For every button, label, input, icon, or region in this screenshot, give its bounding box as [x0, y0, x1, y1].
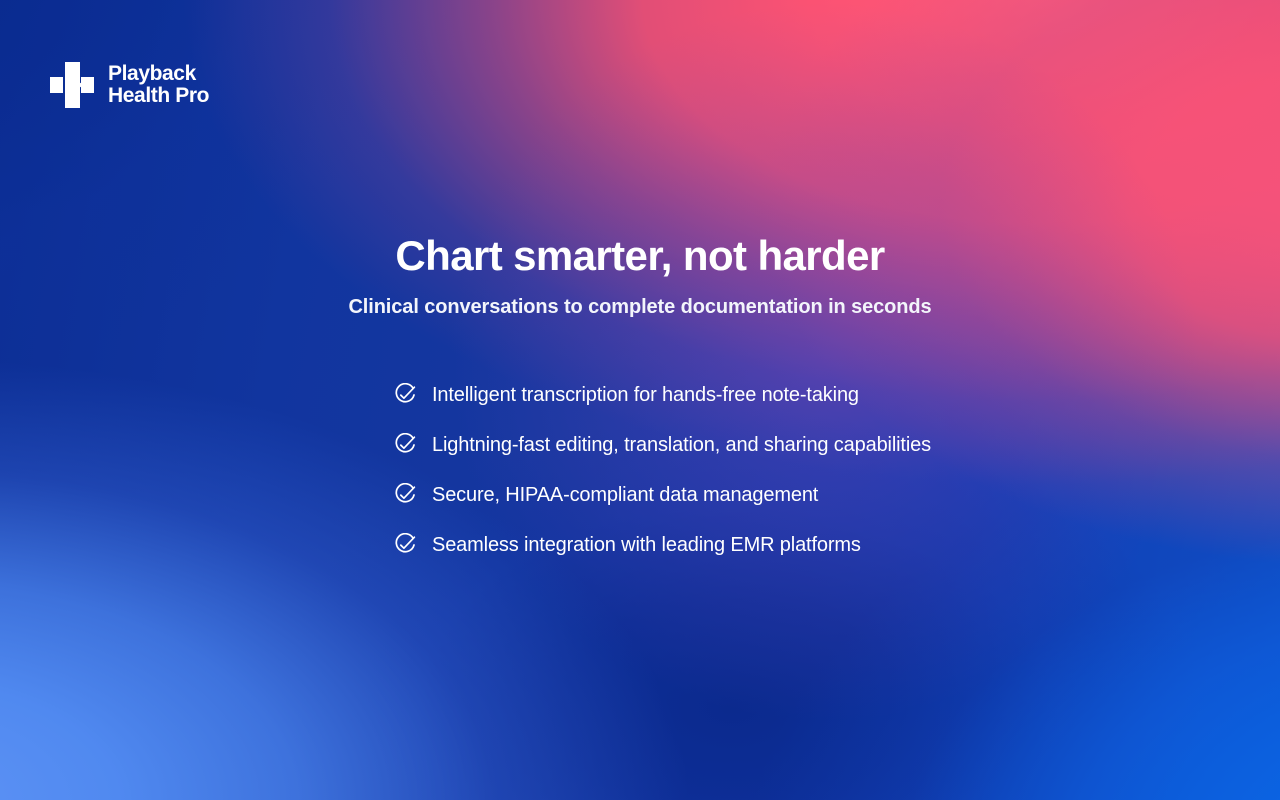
- check-circle-icon: [393, 533, 417, 557]
- check-circle-icon: [393, 383, 417, 407]
- brand-wordmark-line-2: Health Pro: [108, 85, 209, 107]
- feature-label: Lightning-fast editing, translation, and…: [432, 432, 931, 458]
- check-circle-icon: [393, 483, 417, 507]
- list-item: Secure, HIPAA-compliant data management: [393, 482, 1093, 508]
- feature-label: Intelligent transcription for hands-free…: [432, 382, 859, 408]
- brand-logo-lockup[interactable]: Playback Health Pro: [50, 62, 209, 108]
- headline-block: Chart smarter, not harder Clinical conve…: [0, 232, 1280, 320]
- list-item: Lightning-fast editing, translation, and…: [393, 432, 1093, 458]
- promo-slide: Playback Health Pro Chart smarter, not h…: [0, 0, 1280, 800]
- page-subtitle: Clinical conversations to complete docum…: [0, 295, 1280, 320]
- page-title: Chart smarter, not harder: [0, 232, 1280, 279]
- check-circle-icon: [393, 433, 417, 457]
- feature-label: Seamless integration with leading EMR pl…: [432, 532, 861, 558]
- brand-wordmark: Playback Health Pro: [108, 63, 209, 107]
- brand-wordmark-line-1: Playback: [108, 63, 209, 85]
- feature-list: Intelligent transcription for hands-free…: [393, 382, 1093, 558]
- playback-cross-play-mark-icon: [50, 62, 94, 108]
- slide-content: Playback Health Pro Chart smarter, not h…: [0, 0, 1280, 800]
- list-item: Intelligent transcription for hands-free…: [393, 382, 1093, 408]
- list-item: Seamless integration with leading EMR pl…: [393, 532, 1093, 558]
- feature-label: Secure, HIPAA-compliant data management: [432, 482, 818, 508]
